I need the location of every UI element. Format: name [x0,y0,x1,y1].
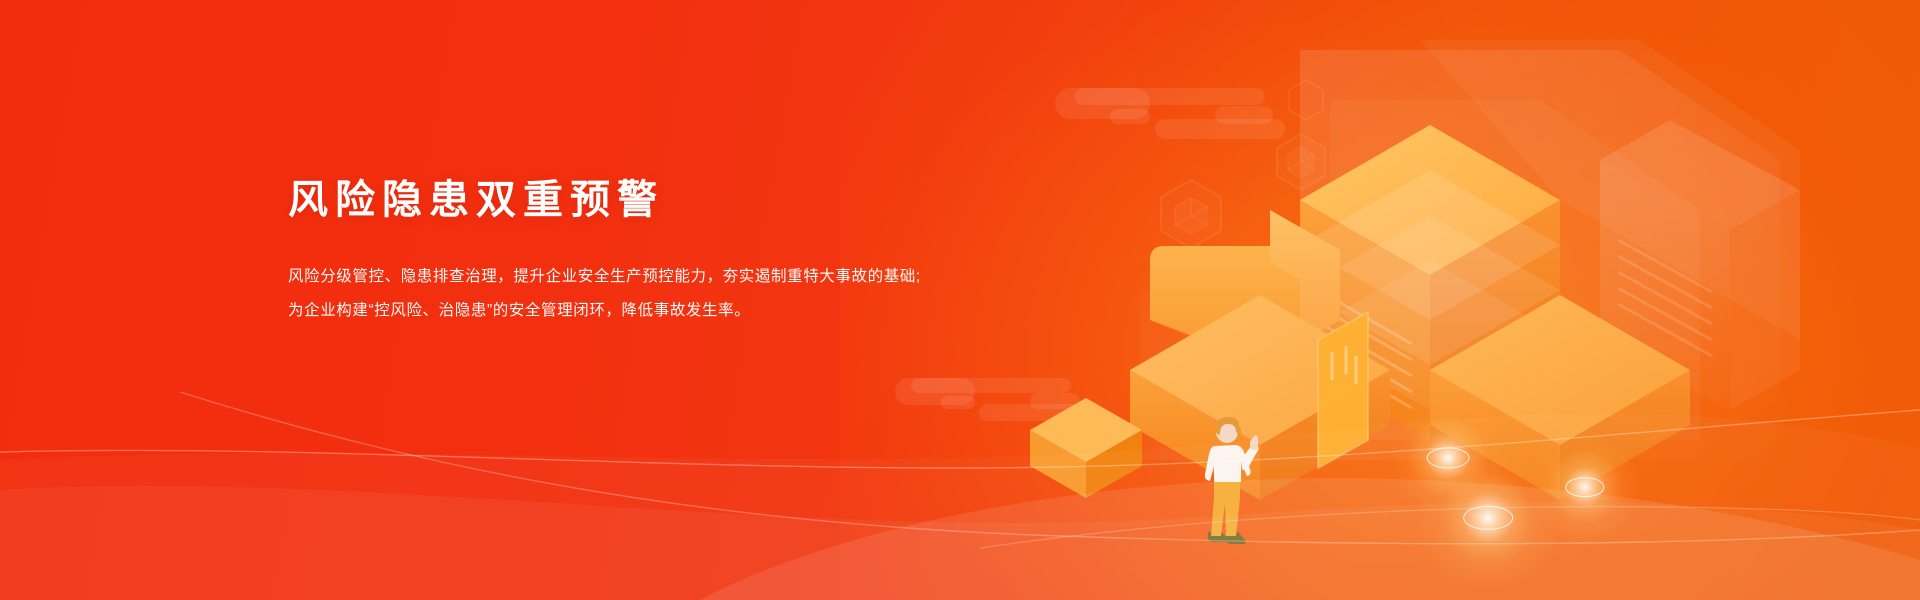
banner-subtitle: 风险分级管控、隐患排查治理，提升企业安全生产预控能力，夯实遏制重特大事故的基础;… [288,260,988,328]
person-pointing-figure [1196,412,1266,544]
page-title: 风险隐患双重预警 [288,176,988,224]
hero-banner: 风险隐患双重预警 风险分级管控、隐患排查治理，提升企业安全生产预控能力，夯实遏制… [0,0,1920,600]
banner-copy: 风险隐患双重预警 风险分级管控、隐患排查治理，提升企业安全生产预控能力，夯实遏制… [288,176,988,328]
subtitle-line-1: 风险分级管控、隐患排查治理，提升企业安全生产预控能力，夯实遏制重特大事故的基础; [288,260,988,294]
subtitle-line-2: 为企业构建“控风险、治隐患”的安全管理闭环，降低事故发生率。 [288,294,988,328]
